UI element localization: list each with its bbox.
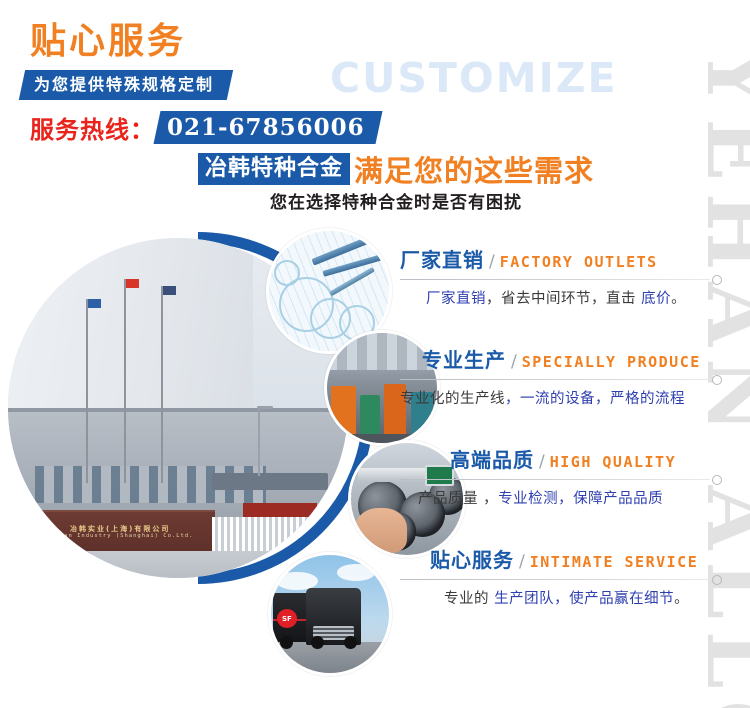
photo-delivery-truck: SF [268,552,392,676]
feature-title-en: FACTORY OUTLETS [500,253,658,271]
feature-body-segment: 生产团队，使产品赢在细节 [494,591,674,607]
sub-banner: 为您提供特殊规格定制 [19,70,233,100]
feature-body-segment: 专业的 [444,591,494,607]
feature-item-specially-produce: 专业生产 / SPECIALLY PRODUCE 专业化的生产线，一流的设备，严… [400,344,750,408]
feature-body-segment: 专业检测，保障产品品质 [498,491,663,507]
flagpole [161,286,163,483]
feature-slash: / [539,452,545,472]
feature-body-segment: ，一流的设备， [505,391,610,407]
feature-divider [400,579,710,580]
flag-icon [163,286,176,295]
feature-slash: / [519,552,525,572]
streetlamp-icon [258,408,260,476]
feature-title-cn: 贴心服务 [430,544,514,573]
flag-icon [126,279,139,288]
courier-logo-icon: SF [277,609,297,628]
slogan-tag: 冶韩特种合金 [198,153,350,184]
machine-unit [331,386,355,437]
flagpole [124,279,126,483]
sub-banner-text: 为您提供特殊规格定制 [34,76,214,94]
hotline-label: 服务热线： [30,110,155,145]
promo-banner: YEHAN ALLOY CUSTOMIZE 贴心服务 为您提供特殊规格定制 服务… [0,0,750,708]
feature-body-segment: 底价 [641,291,671,307]
feature-item-factory-outlets: 厂家直销 / FACTORY OUTLETS 厂家直销，省去中间环节，直击 底价… [400,244,750,308]
feature-item-intimate-service: 贴心服务 / INTIMATE SERVICE 专业的 生产团队，使产品赢在细节… [400,544,750,608]
feature-body: 厂家直销，省去中间环节，直击 底价。 [400,287,750,308]
feature-title-cn: 厂家直销 [400,244,484,273]
feature-heading: 高端品质 / HIGH QUALITY [400,444,750,473]
feature-title-en: HIGH QUALITY [550,453,676,471]
feature-title-cn: 专业生产 [422,344,506,373]
company-sign: 冶韩实业(上海)有限公司 Ye Han Industry (Shanghai) … [25,510,215,554]
flagpole [86,299,88,483]
factory-gate [212,517,334,554]
feature-title-en: INTIMATE SERVICE [530,553,699,571]
hotline-row: 服务热线： 021-67856006 [30,110,379,145]
company-sign-en: Ye Han Industry (Shanghai) Co.Ltd. [47,534,194,540]
feature-divider [400,479,710,480]
customize-word: CUSTOMIZE [330,54,618,102]
flag-icon [88,299,101,308]
cloud-icon [337,564,375,581]
feature-body-segment: 产品质量 ， [418,491,498,507]
feature-body-segment: 。 [674,591,689,607]
feature-list: 厂家直销 / FACTORY OUTLETS 厂家直销，省去中间环节，直击 底价… [400,244,750,644]
feature-body-segment: 严格的流程 [610,391,685,407]
feature-heading: 专业生产 / SPECIALLY PRODUCE [400,344,750,373]
feature-body: 产品质量 ，专业检测，保障产品品质 [400,487,750,508]
truck-scene: SF [271,555,389,673]
feature-heading: 贴心服务 / INTIMATE SERVICE [400,544,750,573]
feature-title-en: SPECIALLY PRODUCE [522,353,701,371]
hotline-number-badge[interactable]: 021-67856006 [153,111,382,144]
feature-item-high-quality: 高端品质 / HIGH QUALITY 产品质量 ，专业检测，保障产品品质 [400,444,750,508]
feature-title-cn: 高端品质 [450,444,534,473]
feature-body-segment: ，省去中间环节，直击 [486,291,641,307]
slogan-main: 满足您的这些需求 [354,148,594,190]
feature-slash: / [511,352,517,372]
page-title: 贴心服务 [30,24,186,60]
slogan-sub: 您在选择特种合金时是否有困扰 [270,188,522,213]
feature-body-segment: 专业化的生产线 [400,391,505,407]
machine-unit [360,395,380,437]
slogan-row: 冶韩特种合金 满足您的这些需求 [198,148,594,190]
feature-heading: 厂家直销 / FACTORY OUTLETS [400,244,750,273]
hotline-number: 021-67856006 [167,114,365,141]
entrance-red-sign [243,503,318,517]
feature-body: 专业的 生产团队，使产品赢在细节。 [400,587,750,608]
feature-body: 专业化的生产线，一流的设备，严格的流程 [400,387,750,408]
feature-slash: / [489,252,495,272]
company-sign-cn: 冶韩实业(上海)有限公司 [70,526,170,533]
feature-divider [400,279,710,280]
entrance-canopy [212,473,328,490]
feature-divider [400,379,710,380]
feature-body-segment: 厂家直销 [426,291,486,307]
feature-body-segment: 。 [671,291,686,307]
